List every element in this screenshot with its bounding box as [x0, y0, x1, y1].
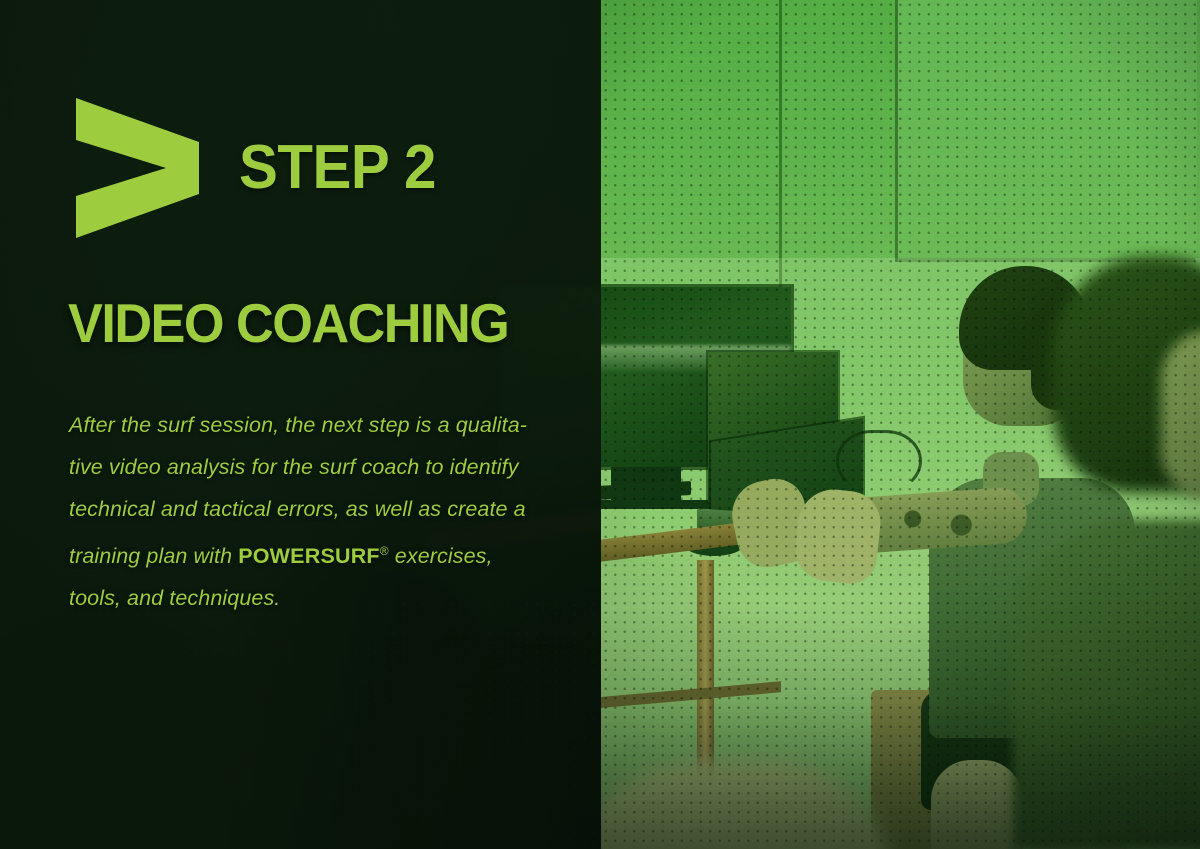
slide-content: STEP 2 VIDEO COACHING After the surf ses… — [0, 0, 601, 849]
body-line-4-prefix: training plan with — [69, 544, 238, 568]
body-line-2: tive video analysis for the surf coach t… — [69, 446, 539, 488]
body-line-4-suffix: exercises, — [389, 544, 493, 568]
slide-root: STEP 2 VIDEO COACHING After the surf ses… — [0, 0, 1200, 849]
page-title: VIDEO COACHING — [68, 296, 508, 351]
body-line-4: training plan with POWERSURF® exercises, — [69, 530, 539, 577]
registered-mark: ® — [380, 544, 389, 558]
step-label: STEP 2 — [239, 137, 436, 199]
body-line-1: After the surf session, the next step is… — [69, 404, 539, 446]
chevron-right-icon — [70, 96, 205, 240]
photo-bottom-shadow — [601, 699, 1200, 849]
step-heading: STEP 2 — [70, 96, 449, 240]
body-line-3: technical and tactical errors, as well a… — [69, 488, 539, 530]
brand-name: POWERSURF — [238, 544, 380, 568]
coaching-photo — [601, 0, 1200, 849]
body-paragraph: After the surf session, the next step is… — [69, 404, 539, 619]
body-line-5: tools, and techniques. — [69, 577, 539, 619]
